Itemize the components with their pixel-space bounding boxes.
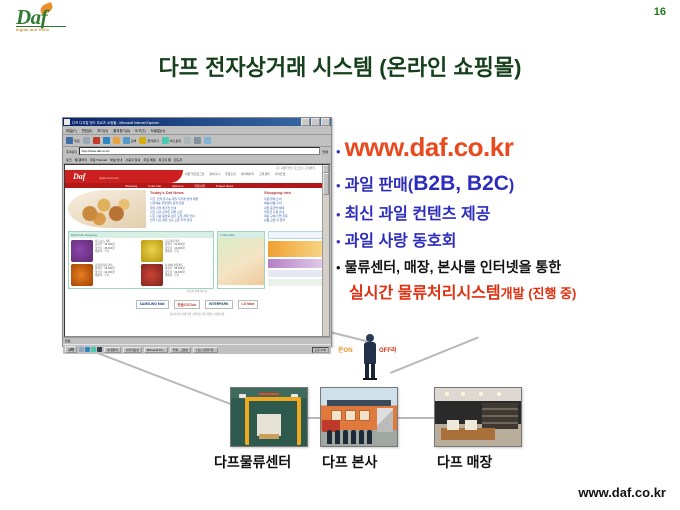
browser-toolbar[interactable]: 뒤로 검색 즐겨찾기 히스토리 (63, 135, 331, 147)
store-spotlight (461, 392, 465, 396)
hq-stairs (377, 408, 393, 432)
person-leg-left (365, 363, 369, 379)
hero-row: Today's Daf News 다프, 전국 유기농 과일 직거래 협약 체결… (68, 190, 326, 228)
bullet-text-club: 과일 사랑 동호회 (345, 227, 457, 251)
taskbar-item[interactable]: 무제 - 그림판 (170, 347, 191, 353)
bullet-marker: • (336, 261, 341, 274)
partner-logo-interpark[interactable]: INTERPARK (205, 300, 233, 309)
warehouse-pallet (257, 414, 281, 436)
bullet-marker: • (336, 179, 341, 192)
warehouse-sign (259, 393, 279, 395)
address-go-button[interactable]: 연결 (322, 149, 328, 154)
hq-window (359, 410, 370, 421)
browser-linksbar[interactable]: 링크 웹 갤러리 무료 Hotmail 채널 안내 사용자 정의 무료 메일 최… (63, 155, 331, 164)
toolbar-back[interactable]: 뒤로 (66, 137, 80, 144)
logo-wordmark: Daf (16, 7, 47, 28)
bullet-text-fruit-sales: 과일 판매 (345, 171, 408, 195)
promo-banner-event[interactable] (268, 279, 326, 286)
toolbar-favorites-label: 즐겨찾기 (147, 138, 158, 143)
bullet-text-logistics: 물류센터, 매장, 본사를 인터넷을 통한 (345, 257, 562, 277)
product-info: 감귤/한라봉 세트 정상가 : 39,000원 할인가 : 32,000원 배송… (95, 264, 115, 286)
maximize-button[interactable] (311, 118, 320, 126)
news-item[interactable]: 전국 다프 매장 신규 오픈 지역 안내 (150, 218, 260, 222)
address-input[interactable]: http://www.daf.co.kr/ (79, 147, 321, 155)
bullet-text-contents: 최신 과일 컨텐츠 제공 (345, 200, 491, 224)
product-thumbnail (71, 240, 93, 262)
nav-support[interactable]: 고객센터 (259, 172, 270, 176)
bullet-marker: • (336, 235, 341, 248)
bullet-marker: • (336, 145, 341, 158)
offline-label: OFF라 (379, 345, 397, 354)
store-spotlight (479, 392, 483, 396)
partner-logo-samsungmall[interactable]: SAMSUNG Mall (136, 300, 169, 309)
hq-people-group (327, 430, 372, 444)
fruits-baby-image (218, 238, 264, 285)
caption-retail-store: 다프 매장 (437, 452, 492, 472)
link-hotmail[interactable]: 무료 Hotmail (90, 157, 107, 162)
product-ship: 배송비 : 무료 (165, 274, 185, 277)
toolbar-favorites[interactable]: 즐겨찾기 (139, 137, 158, 144)
store-display-box (465, 420, 477, 430)
taskbar-item[interactable]: Microsoft Po... (144, 347, 168, 353)
promo-banner-fruit[interactable] (268, 241, 326, 257)
connector-hq-to-store (395, 417, 435, 419)
shopping-info-heading: Shopping Info (264, 190, 326, 195)
close-button[interactable] (321, 118, 330, 126)
forward-arrow-icon (83, 137, 90, 144)
nav-sitemap[interactable]: 사이트맵 (275, 172, 286, 176)
logo-rule (16, 26, 66, 27)
site-banner: Daf digital and fruits 회원가입/로그인 장바구니 주문조… (65, 170, 329, 183)
offline-suffix: 라 (391, 348, 397, 354)
site-content: Today's Daf News 다프, 전국 유기농 과일 직거래 협약 체결… (65, 188, 329, 318)
nav-cart[interactable]: 장바구니 (209, 172, 220, 176)
bullet-text-development: 개발 (진행 중) (501, 283, 577, 302)
site-bottom-links[interactable]: 회사소개 | 이용약관 | 개인정보취급방침 | 이용안내 (68, 312, 326, 318)
site-url-text[interactable]: www.daf.co.kr (345, 132, 514, 163)
menu-item-help[interactable]: 도움말(H) (151, 128, 165, 133)
online-text: ON (344, 348, 353, 354)
bullet-marker: • (336, 208, 341, 221)
link-bestweb[interactable]: 최고의 웹 (159, 157, 171, 162)
start-button[interactable]: 시작 (65, 346, 77, 353)
windows-taskbar[interactable]: 시작 내 컴퓨터 사진자료실 Microsoft Po... 무제 - 그림판 … (63, 344, 331, 354)
toolbar-stop[interactable] (93, 137, 100, 144)
partner-logo-hansolcsclub[interactable]: 한솔CSClub (174, 300, 200, 309)
nav-order-lookup[interactable]: 주문조회 (225, 172, 236, 176)
bullet-url: • www.daf.co.kr (336, 132, 676, 163)
fruits-baby-panel[interactable]: Fruits baby (217, 231, 265, 289)
browser-titlebar: 다프 디지털 앤드 푸르츠 쇼핑몰 - Microsoft Internet E… (63, 118, 331, 126)
offline-text: OFF (379, 348, 391, 354)
menu-item-file[interactable]: 파일(F) (66, 128, 77, 133)
promo-column (268, 231, 326, 289)
nav-project-news[interactable]: Project News (216, 184, 233, 188)
logo-subtext: digital and fruits (16, 28, 49, 32)
toolbar-forward[interactable] (83, 137, 90, 144)
channels-quicklaunch-icon[interactable] (97, 347, 102, 352)
taskbar-item[interactable]: 다프 디지털 앤... (193, 347, 218, 353)
photo-headquarters (320, 387, 398, 447)
product-thumbnail (141, 264, 163, 286)
bullet-text-b2b-b2c: B2B, B2C (413, 172, 509, 196)
toolbar-search-label: 검색 (131, 138, 137, 143)
product-ship: 배송비 : 무료 (165, 250, 185, 253)
scroll-up-arrow-icon[interactable] (323, 165, 329, 173)
person-body (364, 342, 376, 364)
back-arrow-icon (66, 137, 73, 144)
menu-item-edit[interactable]: 편집(E) (82, 128, 93, 133)
partner-logos: SAMSUNG Mall 한솔CSClub INTERPARK LG Mart (68, 300, 326, 312)
product-card[interactable]: 사과/배 선물세트 정상가 : 58,000원 할인가 : 49,000원 배송… (141, 264, 209, 286)
bullet-list: • www.daf.co.kr • 과일 판매 ( B2B, B2C ) • 최… (336, 132, 676, 303)
news-column: Today's Daf News 다프, 전국 유기농 과일 직거래 협약 체결… (150, 190, 260, 228)
address-value: http://www.daf.co.kr/ (82, 149, 110, 153)
taskbar-item[interactable]: 사진자료실 (123, 347, 142, 353)
link-gallery[interactable]: 웹 갤러리 (75, 157, 87, 162)
store-display-box (447, 420, 459, 430)
news-heading: Today's Daf News (150, 190, 260, 195)
browser-title-text: 다프 디지털 앤드 푸르츠 쇼핑몰 - Microsoft Internet E… (72, 120, 301, 125)
photo-retail-store (434, 387, 522, 447)
person-head (366, 334, 374, 342)
product-ship: 배송비 : 무료 (95, 250, 115, 253)
store-spotlight (497, 392, 501, 396)
photo-distribution-center (230, 387, 308, 447)
toolbar-print[interactable] (194, 137, 201, 144)
page-number: 16 (654, 6, 666, 18)
taskbar-item[interactable]: 내 컴퓨터 (104, 347, 121, 353)
toolbar-search[interactable]: 검색 (123, 137, 137, 144)
toolbar-edit[interactable] (204, 137, 211, 144)
person-shadow (363, 378, 377, 380)
person-leg-right (371, 363, 375, 379)
nav-mypage[interactable]: 마이페이지 (241, 172, 254, 176)
shopping-info-column: Shopping Info 주문/결제 안내 배송/반품 안내 회원 등급별 혜… (264, 190, 326, 228)
page-title: 다프 전자상거래 시스템 (온라인 쇼핑몰) (0, 50, 680, 82)
printer-icon (194, 137, 201, 144)
minimize-button[interactable] (301, 118, 310, 126)
vertical-scrollbar[interactable] (322, 165, 329, 336)
link-customize[interactable]: 사용자 정의 (125, 157, 140, 162)
promo-banner-grape[interactable] (268, 259, 326, 268)
shopping-info-item[interactable]: 상품 교환 및 환불 (264, 218, 326, 222)
site-logo[interactable]: Daf (73, 172, 85, 181)
system-tray-clock[interactable]: 오후 4:30 (312, 347, 329, 353)
paren-close: ) (509, 177, 514, 195)
bullet-text-realtime: 실시간 물류처리시스템 (349, 279, 501, 303)
product-info: 모듬과일 세트 정상가 : 52,000원 할인가 : 44,000원 배송비 … (165, 240, 185, 262)
link-freemail[interactable]: 무료 메일 (143, 157, 155, 162)
site-utility-links[interactable]: 홈 | 회원가입 | 로그인 | 고객센터 (276, 166, 315, 170)
nav-join-login[interactable]: 회원가입/로그인 (185, 172, 204, 176)
product-card[interactable]: 모듬과일 세트 정상가 : 52,000원 할인가 : 44,000원 배송비 … (141, 240, 209, 262)
window-controls[interactable] (301, 118, 330, 126)
product-thumbnail (71, 264, 93, 286)
toolbar-history-label: 히스토리 (170, 138, 181, 143)
bullet-logistics: • 물류센터, 매장, 본사를 인터넷을 통한 (336, 257, 676, 277)
caption-distribution-center: 다프물류센터 (214, 452, 291, 472)
promo-banner-notice[interactable] (268, 270, 326, 277)
connector-person-right (390, 336, 479, 373)
bullet-realtime-system: 실시간 물류처리시스템 개발 (진행 중) (349, 279, 676, 303)
browser-window[interactable]: 다프 디지털 앤드 푸르츠 쇼핑몰 - Microsoft Internet E… (62, 117, 332, 347)
address-label: 주소(D) (66, 149, 77, 154)
link-channels[interactable]: 채널 안내 (110, 157, 122, 162)
product-ship: 배송비 : 무료 (95, 274, 115, 277)
bullet-contents: • 최신 과일 컨텐츠 제공 (336, 200, 676, 224)
menu-item-favorites[interactable]: 즐겨찾기(A) (113, 128, 130, 133)
browser-statusbar: 완료 (63, 337, 331, 344)
store-shelving (482, 403, 518, 429)
slide-canvas: Daf digital and fruits 16 다프 전자상거래 시스템 (… (0, 0, 680, 510)
link-label: 링크 (66, 157, 72, 162)
fruit-basket-image (68, 190, 146, 228)
bullet-b2b-b2c: • 과일 판매 ( B2B, B2C ) (336, 171, 676, 196)
site-search-box[interactable] (268, 231, 326, 239)
bullet-club: • 과일 사랑 동호회 (336, 227, 676, 251)
clock-icon (162, 137, 169, 144)
nav-fruits-info[interactable]: Fruits Info (148, 184, 161, 188)
product-listing: Daf Fruits shopping 자두/포도 세트 정상가 : 45,00… (68, 231, 214, 289)
footer-url: www.daf.co.kr (578, 485, 666, 500)
edit-icon (204, 137, 211, 144)
refresh-icon (103, 137, 110, 144)
menu-item-view[interactable]: 보기(V) (97, 128, 108, 133)
home-icon (113, 137, 120, 144)
site-top-nav[interactable]: 회원가입/로그인 장바구니 주문조회 마이페이지 고객센터 사이트맵 (185, 172, 285, 176)
stop-icon (93, 137, 100, 144)
nav-about-us[interactable]: About us (172, 184, 183, 188)
quick-launch-bar[interactable] (79, 347, 102, 352)
toolbar-back-label: 뒤로 (74, 138, 80, 143)
browser-menubar[interactable]: 파일(F) 편집(E) 보기(V) 즐겨찾기(A) 도구(T) 도움말(H) (63, 126, 331, 135)
product-card[interactable]: 감귤/한라봉 세트 정상가 : 39,000원 할인가 : 32,000원 배송… (71, 264, 139, 286)
toolbar-mail[interactable] (184, 137, 191, 144)
product-thumbnail (141, 240, 163, 262)
online-label: 온ON (338, 345, 353, 354)
product-info: 자두/포도 세트 정상가 : 45,000원 할인가 : 38,000원 배송비… (95, 240, 115, 262)
partner-logo-lgmart[interactable]: LG Mart (238, 300, 259, 309)
site-logo-subtext: digital and fruits (99, 176, 119, 180)
person-figure-icon (362, 334, 378, 380)
browser-addressbar[interactable]: 주소(D) http://www.daf.co.kr/ 연결 (63, 147, 331, 155)
hq-roof (327, 400, 391, 406)
show-desktop-icon[interactable] (79, 347, 84, 352)
hq-window (345, 410, 356, 421)
outlook-quicklaunch-icon[interactable] (91, 347, 96, 352)
star-icon (139, 137, 146, 144)
warehouse-pallet-base (259, 434, 279, 439)
ie-icon (64, 119, 70, 125)
daf-logo: Daf digital and fruits (14, 4, 78, 36)
partners-note: 다프와 함께 합니다 (68, 289, 326, 295)
scrollbar-thumb[interactable] (323, 173, 329, 195)
toolbar-history[interactable]: 히스토리 (162, 137, 181, 144)
nav-community[interactable]: 커뮤니티 (195, 184, 206, 188)
store-spotlight (445, 392, 449, 396)
caption-headquarters: 다프 본사 (322, 452, 377, 472)
product-card[interactable]: 자두/포도 세트 정상가 : 45,000원 할인가 : 38,000원 배송비… (71, 240, 139, 262)
product-area: Daf Fruits shopping 자두/포도 세트 정상가 : 45,00… (68, 231, 326, 289)
menu-item-tools[interactable]: 도구(T) (135, 128, 146, 133)
nav-shopping[interactable]: Shopping (125, 184, 137, 188)
status-text: 완료 (65, 339, 71, 343)
browser-viewport[interactable]: 홈 | 회원가입 | 로그인 | 고객센터 Daf digital and fr… (64, 164, 330, 337)
link-windows[interactable]: 윈도우 (174, 157, 183, 162)
search-icon (123, 137, 130, 144)
ie-quicklaunch-icon[interactable] (85, 347, 90, 352)
product-grid: 자두/포도 세트 정상가 : 45,000원 할인가 : 38,000원 배송비… (69, 238, 213, 288)
toolbar-home[interactable] (113, 137, 120, 144)
toolbar-refresh[interactable] (103, 137, 110, 144)
product-info: 사과/배 선물세트 정상가 : 58,000원 할인가 : 49,000원 배송… (165, 264, 185, 286)
mail-icon (184, 137, 191, 144)
